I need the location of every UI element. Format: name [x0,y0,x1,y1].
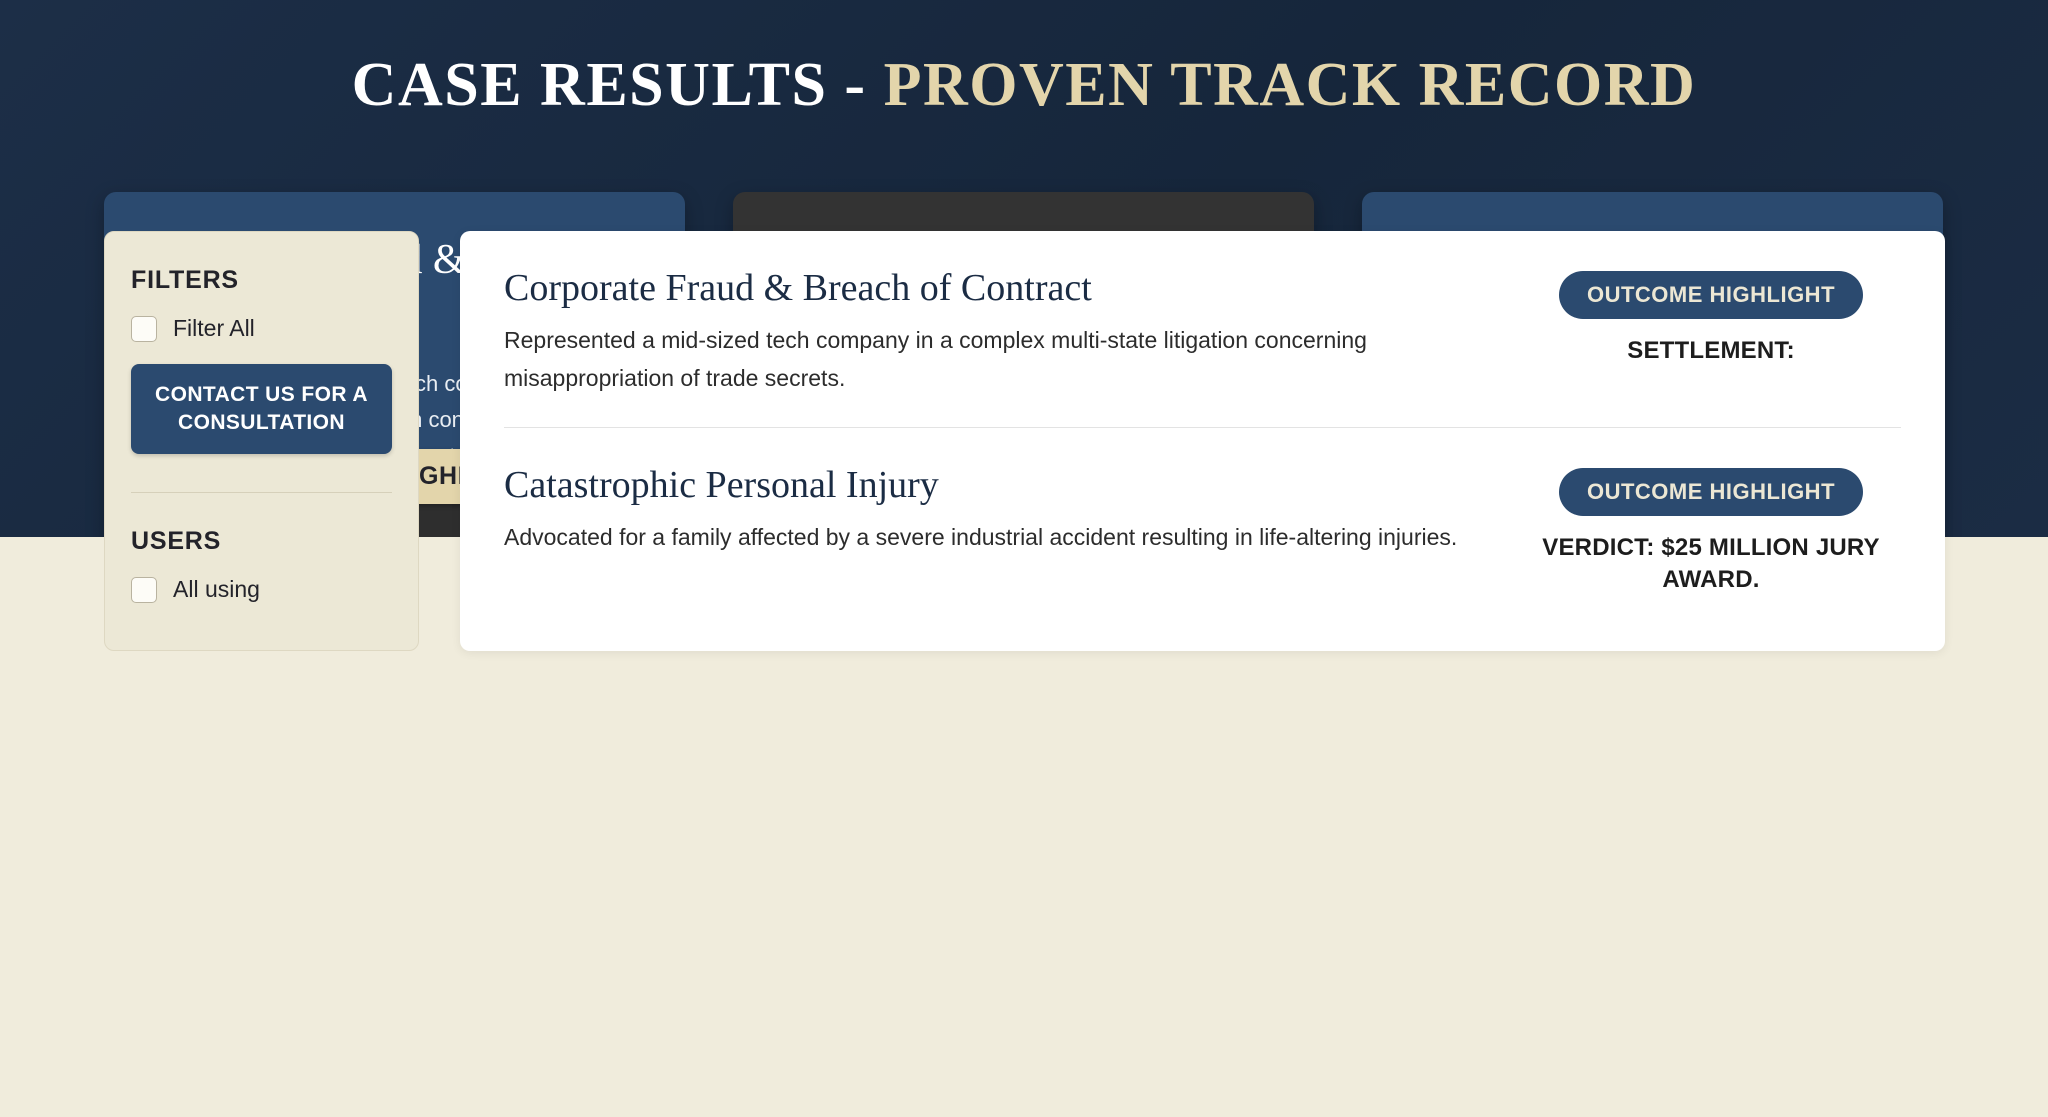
sidebar-divider [131,492,392,493]
filters-heading: FILTERS [131,266,392,295]
users-all-checkbox[interactable] [131,577,157,603]
list-item-outcome-text: SETTLEMENT: [1521,335,1901,367]
users-all-label: All using [173,576,260,603]
list-item[interactable]: Corporate Fraud & Breach of Contract Rep… [504,263,1901,428]
list-item-side: OUTCOME HIGHLIGHT VERDICT: $25 MILLION J… [1521,460,1901,596]
page-title-accent: PROVEN TRACK RECORD [884,51,1697,119]
filter-all-label: Filter All [173,315,255,342]
outcome-highlight-badge: OUTCOME HIGHLIGHT [1559,468,1863,516]
list-item-main: Corporate Fraud & Breach of Contract Rep… [504,263,1521,397]
list-item-description: Represented a mid-sized tech company in … [504,321,1481,397]
list-item[interactable]: Catastrophic Personal Injury Advocated f… [504,460,1901,626]
list-item-main: Catastrophic Personal Injury Advocated f… [504,460,1521,556]
case-results-list-panel: Corporate Fraud & Breach of Contract Rep… [460,231,1945,651]
filters-sidebar: FILTERS Filter All CONTACT US FOR A CONS… [104,231,419,651]
filter-all-checkbox[interactable] [131,316,157,342]
page-title-primary: CASE RESULTS - [352,51,884,119]
users-heading: USERS [131,527,392,556]
list-item-description: Advocated for a family affected by a sev… [504,518,1481,556]
filter-all-row[interactable]: Filter All [131,315,392,342]
outcome-highlight-badge: OUTCOME HIGHLIGHT [1559,271,1863,319]
list-item-title: Catastrophic Personal Injury [504,460,1481,510]
users-all-row[interactable]: All using [131,576,392,603]
list-item-outcome-text: VERDICT: $25 MILLION JURY AWARD. [1521,532,1901,596]
list-item-title: Corporate Fraud & Breach of Contract [504,263,1481,313]
contact-consultation-button[interactable]: CONTACT US FOR A CONSULTATION [131,364,392,454]
list-item-side: OUTCOME HIGHLIGHT SETTLEMENT: [1521,263,1901,367]
page-title: CASE RESULTS - PROVEN TRACK RECORD [0,48,2048,122]
